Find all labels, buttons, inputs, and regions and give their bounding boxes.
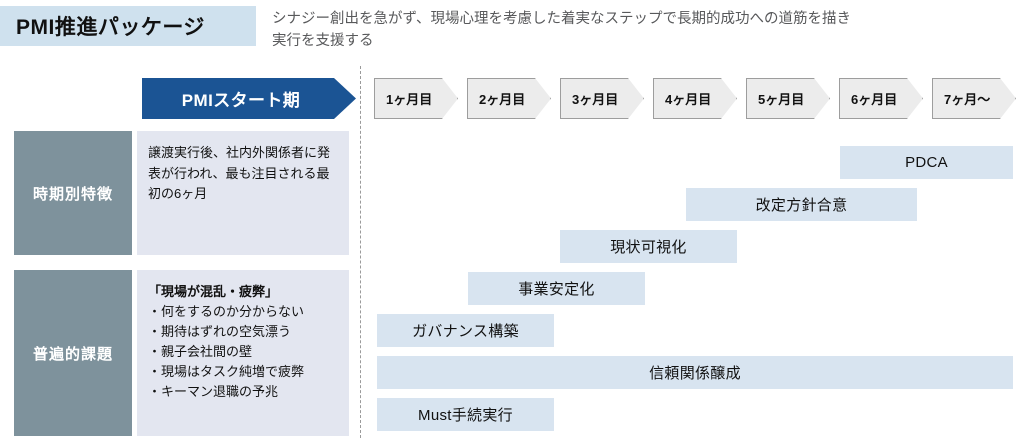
- subtitle: シナジー創出を急がず、現場心理を考慮した着実なステップで長期的成功への道筋を描き…: [272, 8, 972, 52]
- row-body-heading: 「現場が混乱・疲弊」: [148, 282, 339, 302]
- gantt-bar: ガバナンス構築: [377, 314, 554, 347]
- timeline-chevron-label: 1ヶ月目: [375, 89, 432, 108]
- row-body-box-2: 「現場が混乱・疲弊」・何をするのか分からない・期待はずれの空気漂う・親子会社間の…: [137, 270, 349, 436]
- timeline-chevron-5: 5ヶ月目: [746, 78, 830, 119]
- vertical-dashed-divider: [360, 66, 361, 438]
- gantt-bar-label: 現状可視化: [610, 236, 687, 257]
- gantt-bar-label: ガバナンス構築: [412, 320, 519, 341]
- row-label-box-2: 普遍的課題: [14, 270, 132, 436]
- page-title-badge: PMI推進パッケージ: [0, 6, 256, 46]
- row-body-list-item: ・親子会社間の壁: [148, 342, 339, 362]
- phase-arrow-pmi-start: PMIスタート期: [142, 78, 356, 119]
- timeline-chevron-6: 6ヶ月目: [839, 78, 923, 119]
- timeline-chevron-label: 4ヶ月目: [654, 89, 711, 108]
- row-label-box-1: 時期別特徴: [14, 131, 132, 255]
- timeline-chevron-2: 2ヶ月目: [467, 78, 551, 119]
- timeline-chevron-label: 7ヶ月〜: [933, 89, 990, 108]
- gantt-bar: Must手続実行: [377, 398, 554, 431]
- row-body-box-1: 譲渡実行後、社内外関係者に発表が行われ、最も注目される最初の6ヶ月: [137, 131, 349, 255]
- gantt-bar-label: PDCA: [905, 154, 948, 171]
- gantt-bar-label: 改定方針合意: [756, 194, 848, 215]
- row-body-text: 譲渡実行後、社内外関係者に発表が行われ、最も注目される最初の6ヶ月: [148, 143, 339, 205]
- subtitle-line-1: シナジー創出を急がず、現場心理を考慮した着実なステップで長期的成功への道筋を描き: [272, 8, 972, 30]
- row-label: 時期別特徴: [33, 183, 113, 204]
- row-body-list-item: ・期待はずれの空気漂う: [148, 322, 339, 342]
- gantt-bar: 改定方針合意: [686, 188, 917, 221]
- gantt-bar-label: 信頼関係醸成: [649, 362, 741, 383]
- timeline-chevron-label: 3ヶ月目: [561, 89, 618, 108]
- gantt-bar: 信頼関係醸成: [377, 356, 1013, 389]
- subtitle-line-2: 実行を支援する: [272, 30, 972, 52]
- slide-canvas: PMI推進パッケージ シナジー創出を急がず、現場心理を考慮した着実なステップで長…: [0, 0, 1024, 444]
- row-label: 普遍的課題: [33, 343, 113, 364]
- page-title: PMI推進パッケージ: [0, 11, 205, 41]
- phase-arrow-label: PMIスタート期: [182, 86, 316, 111]
- timeline-chevron-1: 1ヶ月目: [374, 78, 458, 119]
- gantt-bar: 現状可視化: [560, 230, 737, 263]
- timeline-chevron-label: 5ヶ月目: [747, 89, 804, 108]
- timeline-chevron-label: 6ヶ月目: [840, 89, 897, 108]
- timeline-chevron-4: 4ヶ月目: [653, 78, 737, 119]
- gantt-bar: PDCA: [840, 146, 1013, 179]
- gantt-bar: 事業安定化: [468, 272, 645, 305]
- row-body-list-item: ・何をするのか分からない: [148, 302, 339, 322]
- gantt-bar-label: Must手続実行: [418, 404, 513, 425]
- gantt-bar-label: 事業安定化: [518, 278, 595, 299]
- row-body-list-item: ・キーマン退職の予兆: [148, 382, 339, 402]
- row-body-list-item: ・現場はタスク純増で疲弊: [148, 362, 339, 382]
- timeline-chevron-3: 3ヶ月目: [560, 78, 644, 119]
- timeline-chevron-label: 2ヶ月目: [468, 89, 525, 108]
- timeline-chevron-7: 7ヶ月〜: [932, 78, 1016, 119]
